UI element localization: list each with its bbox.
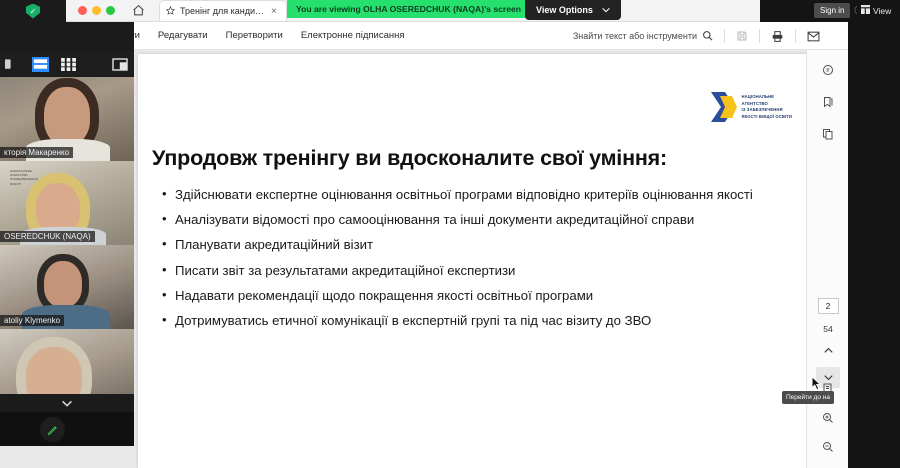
naqa-mark-icon [711,90,737,124]
participant-tile[interactable]: НАЦІОНАЛЬНЕАГЕНТСТВОІЗ ЗАБЕЗПЕЧЕННЯЯКОСТ… [0,161,134,245]
pdf-toolbar-right: Знайти текст або інструменти [573,22,820,50]
participant-filmstrip: кторія Макаренко НАЦІОНАЛЬНЕАГЕНТСТВОІЗ … [0,22,134,446]
participant-name: OSEREDCHUK (NAQA) [0,231,95,242]
list-item: Надавати рекомендації щодо покращення як… [160,287,782,305]
view-options-label: View Options [536,5,593,15]
list-item: Аналізувати відомості про самооцінювання… [160,211,782,229]
maximize-window-button[interactable] [106,6,115,15]
menu-item-e-sign[interactable]: Електронне підписання [301,30,405,41]
divider [795,29,796,43]
page-navigator: 2 54 [807,298,849,388]
collapse-filmstrip-button[interactable] [0,394,134,412]
minimize-view-icon[interactable] [111,57,128,72]
mouse-cursor [812,377,821,390]
document-tab-label: Тренінг для кандидат... [180,6,264,16]
filmstrip-footer [0,412,134,446]
grid-view-icon [861,5,870,16]
participant-tile[interactable]: atoliy Klymenko [0,245,134,329]
naqa-line-4: ЯКОСТІ ВИЩОЇ ОСВІТИ [742,114,792,121]
pdf-toolbar: Усі інструменти Редагувати Перетворити Е… [0,22,900,50]
naqa-logo: НАЦІОНАЛЬНЕ АГЕНТСТВО ІЗ ЗАБЕЗПЕЧЕННЯ ЯК… [711,90,792,124]
minimize-window-button[interactable] [92,6,101,15]
find-placeholder: Знайти текст або інструменти [573,31,697,41]
background-slide: НАЦІОНАЛЬНЕАГЕНТСТВОІЗ ЗАБЕЗПЕЧЕННЯЯКОСТ… [10,169,38,186]
naqa-logo-text: НАЦІОНАЛЬНЕ АГЕНТСТВО ІЗ ЗАБЕЗПЕЧЕННЯ ЯК… [742,94,792,120]
search-icon[interactable] [702,30,713,43]
screen-root: Тренінг для кандидат... × + Ст Усі інстр… [0,0,900,468]
gallery-view-icon[interactable] [60,57,77,72]
slide-title: Упродовж тренінгу ви вдосконалите свої у… [152,146,792,171]
pages-icon[interactable] [815,122,841,146]
pencil-icon[interactable] [40,417,65,442]
strip-view-icon[interactable] [32,57,49,72]
zoom-security-area: ✓ [0,0,66,22]
star-icon[interactable] [166,6,175,17]
list-item: Планувати акредитаційний візит [160,236,782,254]
view-mode-toolbar [0,52,134,76]
list-item: Дотримуватись етичної комунікації в експ… [160,312,782,330]
divider [724,29,725,43]
zoom-right-panel [848,0,900,468]
view-options-button[interactable]: View Options [525,0,621,20]
menu-item-edit[interactable]: Редагувати [158,30,208,41]
window-controls[interactable] [78,6,115,15]
chevron-up-icon[interactable] [816,340,840,361]
view-button[interactable]: View [857,3,895,18]
participant-tile[interactable]: кторія Макаренко [0,77,134,161]
slide-bullet-list: Здійснювати експертне оцінювання освітнь… [160,186,782,337]
participant-name: atoliy Klymenko [0,315,64,326]
divider [759,29,760,43]
zoom-in-icon[interactable] [822,411,834,429]
pdf-right-rail: 2 54 [806,50,848,468]
email-icon[interactable] [807,31,820,42]
pdf-page: НАЦІОНАЛЬНЕ АГЕНТСТВО ІЗ ЗАБЕЗПЕЧЕННЯ ЯК… [138,54,806,468]
avatar-head [44,261,82,307]
find-input[interactable]: Знайти текст або інструменти [573,30,713,43]
home-icon[interactable] [129,2,147,20]
shield-icon[interactable]: ✓ [26,4,40,19]
list-item: Писати звіт за результатами акредитаційн… [160,262,782,280]
page-total-label: 54 [823,324,832,334]
view-button-label: View [873,6,891,16]
save-icon[interactable] [736,30,748,42]
document-tab[interactable]: Тренінг для кандидат... × [159,0,287,21]
comment-icon[interactable] [815,58,841,82]
speaker-view-icon[interactable] [4,57,21,72]
menu-item-convert[interactable]: Перетворити [226,30,283,41]
next-page-tooltip: Перейти до на [782,391,834,404]
pdf-reader-window: Тренінг для кандидат... × + Ст Усі інстр… [0,0,900,468]
signin-tooltip: Sign in [814,3,850,18]
page-number-input[interactable]: 2 [818,298,839,314]
close-window-button[interactable] [78,6,87,15]
document-viewport[interactable]: НАЦІОНАЛЬНЕ АГЕНТСТВО ІЗ ЗАБЕЗПЕЧЕННЯ ЯК… [0,50,900,468]
chevron-down-icon [602,5,610,15]
screen-share-banner: You are viewing OLHA OSEREDCHUK (NAQA)'s… [287,0,530,18]
print-icon[interactable] [771,30,784,43]
participant-tiles: кторія Макаренко НАЦІОНАЛЬНЕАГЕНТСТВОІЗ … [0,77,134,413]
page-number-value: 2 [826,301,831,311]
zoom-out-icon[interactable] [822,440,834,458]
close-icon[interactable]: × [271,6,277,17]
bookmark-icon[interactable] [815,90,841,114]
avatar-head [44,87,90,145]
participant-name: кторія Макаренко [0,147,73,158]
list-item: Здійснювати експертне оцінювання освітнь… [160,186,782,204]
